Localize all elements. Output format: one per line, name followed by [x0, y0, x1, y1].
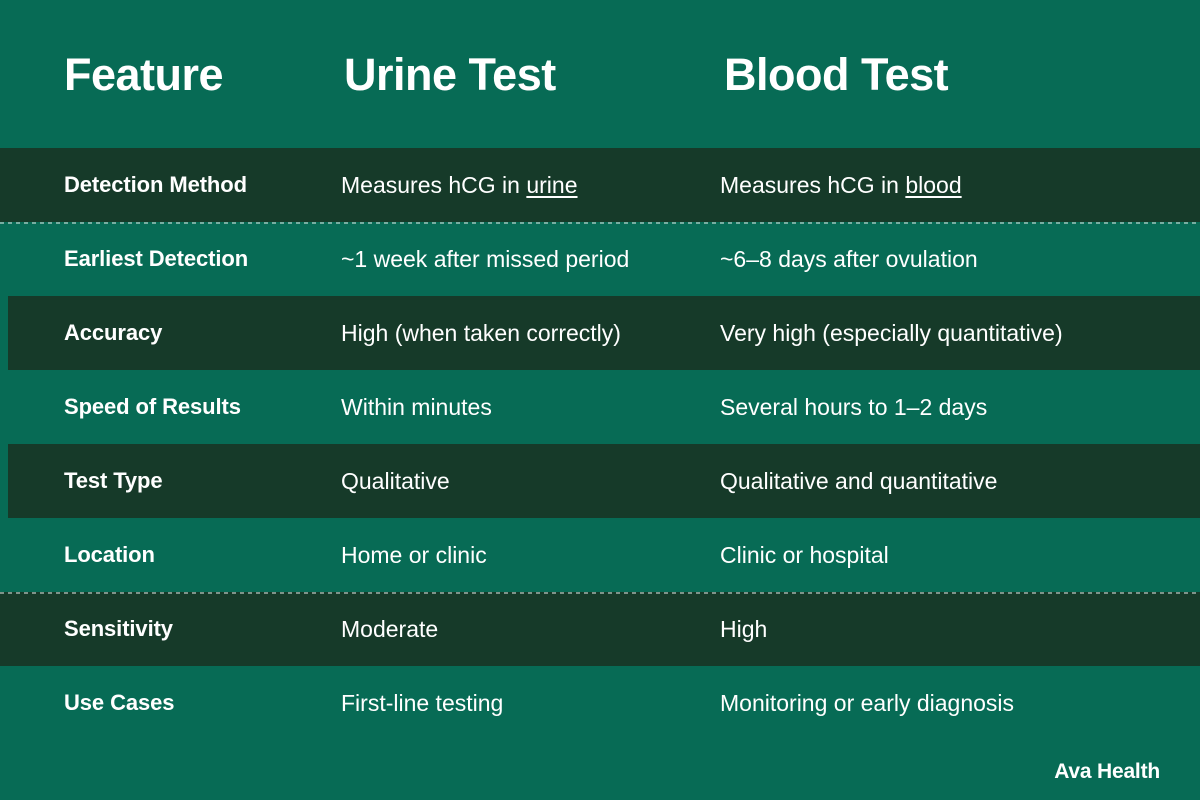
row-separator — [0, 222, 1200, 224]
column-header-feature: Feature — [0, 52, 338, 97]
table-row: Speed of Results Within minutes Several … — [0, 370, 1200, 444]
row-value-urine: Moderate — [338, 616, 718, 642]
row-value-urine: Within minutes — [338, 394, 718, 420]
row-value-blood: Qualitative and quantitative — [718, 468, 1200, 494]
table-footer: Ava Health — [0, 744, 1200, 800]
row-value-urine: Measures hCG in urine — [338, 172, 718, 198]
table-row: Test Type Qualitative Qualitative and qu… — [0, 444, 1200, 518]
row-value-blood: Several hours to 1–2 days — [718, 394, 1200, 420]
row-label: Use Cases — [0, 690, 338, 715]
row-value-blood-emphasis: blood — [905, 172, 961, 198]
row-label: Detection Method — [0, 172, 338, 197]
row-label: Test Type — [0, 468, 338, 493]
row-label: Speed of Results — [0, 394, 338, 419]
table-row: Location Home or clinic Clinic or hospit… — [0, 518, 1200, 592]
table-row: Accuracy High (when taken correctly) Ver… — [0, 296, 1200, 370]
column-header-urine-test: Urine Test — [338, 52, 718, 97]
row-value-urine-emphasis: urine — [526, 172, 577, 198]
row-value-blood: Very high (especially quantitative) — [718, 320, 1200, 346]
row-value-urine: Qualitative — [338, 468, 718, 494]
row-label: Earliest Detection — [0, 246, 338, 271]
table-body: Detection Method Measures hCG in urine M… — [0, 148, 1200, 744]
comparison-table: Feature Urine Test Blood Test Detection … — [0, 0, 1200, 800]
row-value-urine: ~1 week after missed period — [338, 246, 718, 272]
row-label: Accuracy — [0, 320, 338, 345]
row-label: Sensitivity — [0, 616, 338, 641]
row-label: Location — [0, 542, 338, 567]
row-value-urine: High (when taken correctly) — [338, 320, 718, 346]
row-separator — [0, 592, 1200, 594]
row-value-urine: First-line testing — [338, 690, 718, 716]
table-row: Detection Method Measures hCG in urine M… — [0, 148, 1200, 222]
row-value-blood: ~6–8 days after ovulation — [718, 246, 1200, 272]
row-value-blood: Monitoring or early diagnosis — [718, 690, 1200, 716]
row-value-blood: High — [718, 616, 1200, 642]
table-header-row: Feature Urine Test Blood Test — [0, 0, 1200, 148]
row-value-blood-text: Measures hCG in — [720, 172, 905, 198]
row-value-urine: Home or clinic — [338, 542, 718, 568]
brand-logo: Ava Health — [1054, 760, 1160, 784]
table-row: Earliest Detection ~1 week after missed … — [0, 222, 1200, 296]
row-value-blood: Clinic or hospital — [718, 542, 1200, 568]
row-value-blood: Measures hCG in blood — [718, 172, 1200, 198]
row-value-urine-text: Measures hCG in — [341, 172, 526, 198]
table-row: Sensitivity Moderate High — [0, 592, 1200, 666]
column-header-blood-test: Blood Test — [718, 52, 1200, 97]
table-row: Use Cases First-line testing Monitoring … — [0, 666, 1200, 740]
